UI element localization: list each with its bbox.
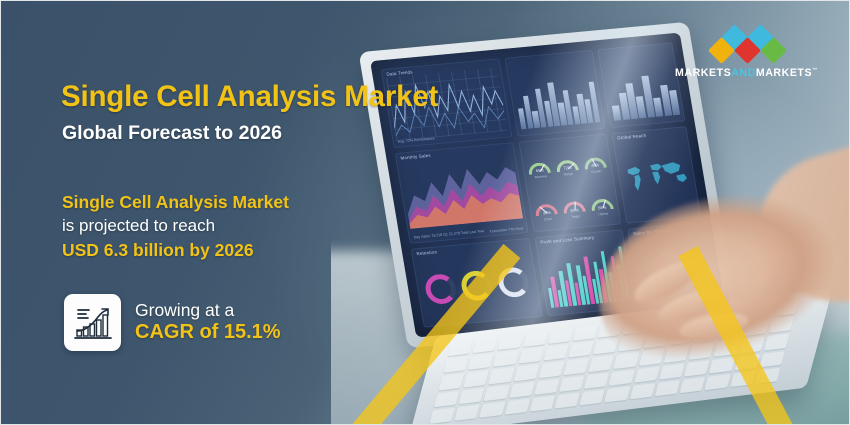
- mini-bar-chart: [513, 73, 600, 129]
- gauge-4: 38% Churn: [530, 187, 561, 228]
- gauge-5-name: Target: [563, 213, 588, 219]
- monthly-sales-note2: Cumulative YTD Goal: [490, 226, 523, 233]
- gauge-4-name: Churn: [535, 216, 560, 222]
- cagr-line-1: Growing at a: [135, 300, 281, 321]
- growth-chart-icon: [64, 294, 121, 351]
- lead-line-1: Single Cell Analysis Market: [62, 192, 289, 213]
- cagr-text: Growing at a CAGR of 15.1%: [135, 300, 281, 344]
- logo-diamonds: [699, 28, 825, 64]
- gauge-3-name: Growth: [584, 169, 609, 175]
- gauge-1: 65% Revenue: [523, 145, 554, 186]
- donut-2: [460, 270, 495, 302]
- brand-logo[interactable]: MARKETSANDMARKETS™: [675, 28, 825, 79]
- gauge-3: 48% Growth: [579, 140, 610, 181]
- column-chart-panel: [597, 42, 685, 128]
- gauge-1-name: Revenue: [528, 174, 553, 180]
- market-report-banner: Data Trends Avg. 72% Performance: [0, 0, 850, 425]
- cagr-line-2: CAGR of 15.1%: [135, 321, 281, 345]
- gauge-2: 72% Margin: [551, 142, 582, 183]
- profit-loss-label: Profit and Loss Summary: [540, 235, 595, 245]
- column-chart: [606, 66, 680, 121]
- donut-3: [496, 266, 531, 298]
- gauge-5: 81% Target: [558, 184, 589, 225]
- page-title: Single Cell Analysis Market: [61, 80, 438, 114]
- logo-word-part2: MARKETS: [756, 67, 812, 79]
- mini-bars-panel: [504, 50, 605, 137]
- page-subtitle: Global Forecast to 2026: [62, 122, 282, 145]
- gauge-6: 56% Uptime: [586, 182, 617, 223]
- retention-donuts: [417, 249, 536, 322]
- lead-line-2: is projected to reach: [62, 216, 215, 236]
- gauges-panel: 65% Revenue 72% Margin: [518, 134, 621, 233]
- gauge-2-name: Margin: [556, 171, 581, 177]
- logo-trademark: ™: [812, 67, 818, 73]
- logo-word-and: AND: [731, 67, 756, 79]
- lead-line-3: USD 6.3 billion by 2026: [62, 240, 254, 261]
- cagr-badge: Growing at a CAGR of 15.1%: [64, 294, 281, 351]
- logo-wordmark: MARKETSANDMARKETS™: [675, 67, 825, 79]
- text-content: Single Cell Analysis Market Global Forec…: [1, 1, 431, 425]
- logo-word-part1: MARKETS: [675, 67, 731, 79]
- gauge-6-name: Uptime: [591, 211, 616, 217]
- gauge-grid: 65% Revenue 72% Margin: [523, 140, 617, 228]
